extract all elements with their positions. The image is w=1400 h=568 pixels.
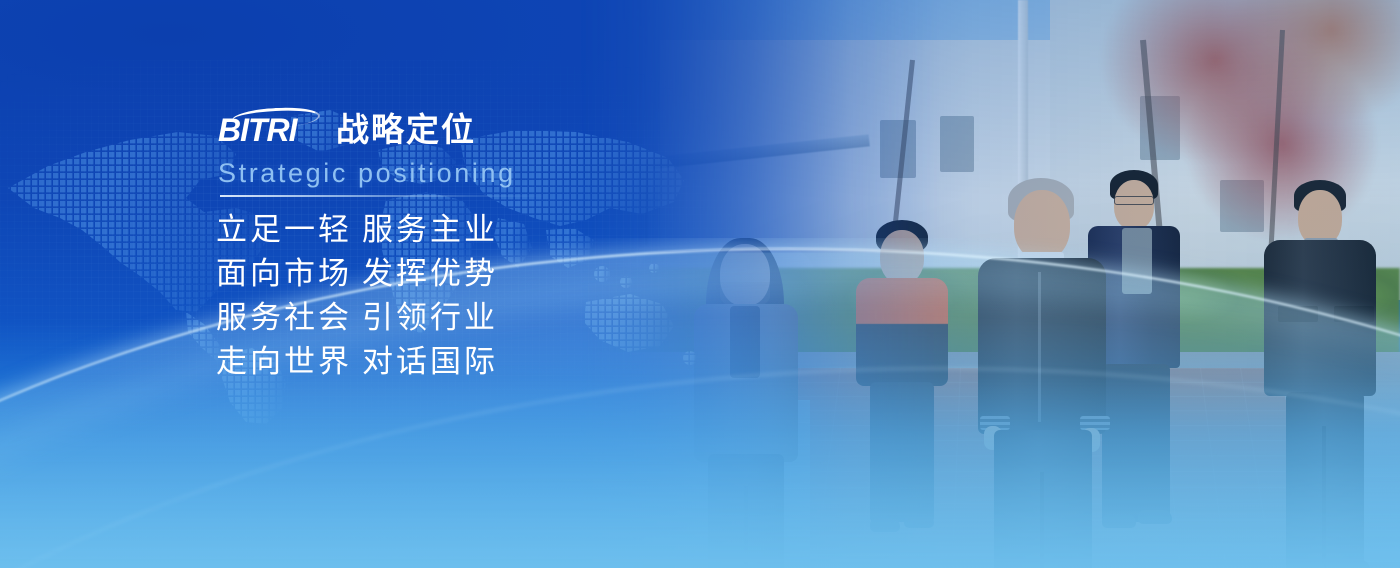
- page-title: 战略定位: [336, 112, 476, 148]
- slogan-left: 立足一轻: [216, 208, 362, 252]
- subtitle-english: Strategic positioning: [218, 157, 516, 189]
- strategic-positioning-banner: BITRI 战略定位 Strategic positioning 立足一轻 服务…: [0, 0, 1400, 568]
- slogan-right: 引领行业: [362, 296, 498, 340]
- slogan-left: 服务社会: [216, 296, 362, 340]
- slogan-right: 服务主业: [362, 208, 498, 252]
- text-content: BITRI 战略定位 Strategic positioning 立足一轻 服务…: [0, 0, 640, 568]
- slogan-left: 面向市场: [216, 252, 362, 296]
- title-divider: [220, 195, 550, 197]
- slogan-left: 走向世界: [216, 340, 362, 384]
- slogan-right: 发挥优势: [362, 252, 498, 296]
- slogan-list: 立足一轻 服务主业 面向市场 发挥优势 服务社会 引领行业 走向世界 对话国际: [216, 208, 498, 384]
- bitri-logo: BITRI: [218, 112, 322, 148]
- brand-row: BITRI 战略定位: [218, 112, 476, 148]
- slogan-row: 立足一轻 服务主业: [216, 208, 498, 252]
- slogan-right: 对话国际: [362, 340, 498, 384]
- slogan-row: 服务社会 引领行业: [216, 296, 498, 340]
- slogan-row: 面向市场 发挥优势: [216, 252, 498, 296]
- slogan-row: 走向世界 对话国际: [216, 340, 498, 384]
